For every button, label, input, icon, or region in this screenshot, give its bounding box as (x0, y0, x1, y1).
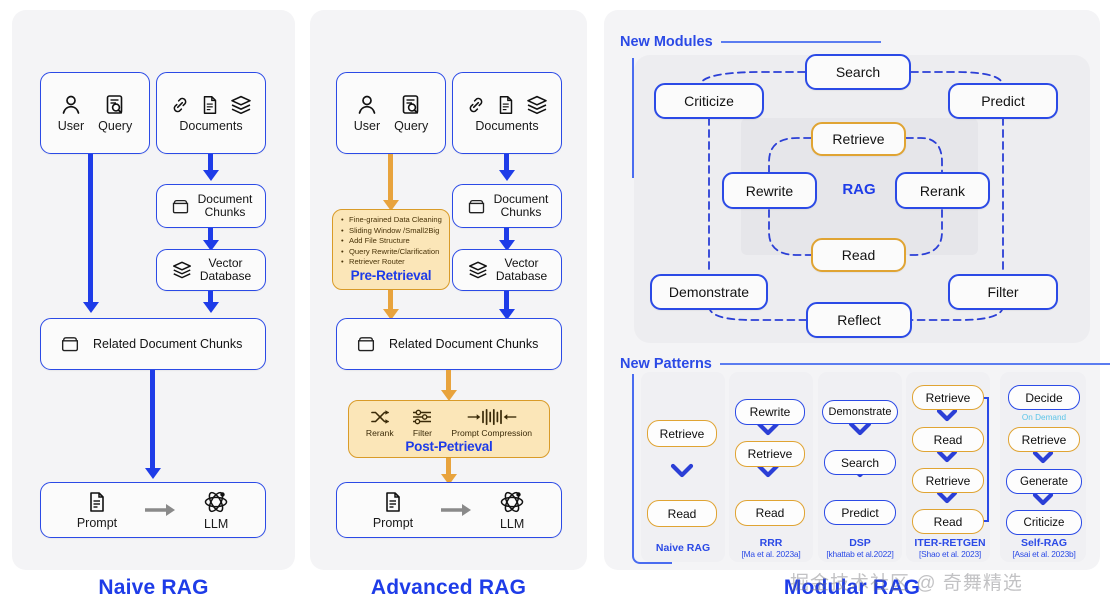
query-label: Query (394, 119, 428, 133)
right-arrow-icon (439, 501, 473, 519)
pattern-step-rewrite[interactable]: Rewrite (735, 399, 805, 425)
step-label: Retrieve (748, 447, 793, 461)
pattern-citation: [Shao et al. 2023] (902, 549, 998, 560)
panel-title-naive-rag: Naive RAG (12, 576, 295, 600)
post-retrieval-label: Post-Petrieval (349, 439, 549, 454)
naive-arrow-related-to-prompt (150, 370, 155, 470)
post-retrieval-icons: Rerank Filter (349, 401, 549, 438)
module-reflect[interactable]: Reflect (806, 302, 912, 338)
prompt-compression-icon (463, 408, 521, 426)
module-predict-label: Predict (981, 93, 1025, 109)
post-retrieval-note: Rerank Filter (348, 400, 550, 458)
module-rewrite[interactable]: Rewrite (722, 172, 817, 209)
pre-bullet: Query Rewrite/Clarification (349, 247, 443, 257)
panel-title-advanced-rag: Advanced RAG (310, 576, 587, 600)
related-chunks-icon (355, 333, 377, 355)
pattern-column-naive-rag (641, 372, 725, 562)
prompt-compression-label: Prompt Compression (451, 428, 532, 438)
module-criticize[interactable]: Criticize (654, 83, 764, 119)
filter-cell: Filter (411, 408, 433, 438)
pattern-caption-rrr: RRR [Ma et al. 2023a] (729, 538, 813, 560)
pre-retrieval-bullets: Fine-grained Data Cleaning Sliding Windo… (333, 210, 449, 267)
rerank-label: Rerank (366, 428, 394, 438)
module-read-label: Read (842, 247, 875, 263)
prompt-label: Prompt (77, 516, 117, 530)
module-search[interactable]: Search (805, 54, 911, 90)
pattern-step-retrieve[interactable]: Retrieve (735, 441, 805, 467)
module-retrieve[interactable]: Retrieve (811, 122, 906, 156)
new-patterns-header: New Patterns (620, 356, 1110, 372)
advanced-related-chunks-box: Related Document Chunks (336, 318, 562, 370)
query-icon-cell: Query (98, 93, 132, 133)
pattern-name: ITER-RETGEN (914, 537, 985, 549)
user-icon-cell: User (354, 93, 380, 133)
user-label: User (354, 119, 380, 133)
step-label: Read (934, 433, 963, 447)
query-icon-cell: Query (394, 93, 428, 133)
module-filter[interactable]: Filter (948, 274, 1058, 310)
prompt-compression-cell: Prompt Compression (451, 408, 532, 438)
rerank-shuffle-icon (369, 408, 391, 426)
step-label: Retrieve (926, 474, 971, 488)
prompt-document-icon (85, 490, 109, 514)
new-modules-header: New Modules (620, 34, 881, 50)
naive-vector-database-box: VectorDatabase (156, 249, 266, 291)
link-icon (169, 94, 191, 116)
pattern-step-generate[interactable]: Generate (1006, 469, 1082, 494)
naive-arrowhead-user (83, 302, 99, 313)
document-icon (495, 94, 517, 116)
step-label: Demonstrate (829, 406, 892, 418)
module-criticize-label: Criticize (684, 93, 734, 109)
query-search-doc-icon (399, 93, 423, 117)
advanced-documents-box: Documents (452, 72, 562, 154)
pattern-step-predict[interactable]: Predict (824, 500, 896, 525)
advanced-document-chunks-label: DocumentChunks (494, 193, 549, 219)
llm-label: LLM (204, 517, 228, 531)
link-icon (465, 94, 487, 116)
new-patterns-heading: New Patterns (620, 356, 712, 372)
filter-sliders-icon (411, 408, 433, 426)
naive-user-query-box: User Query (40, 72, 150, 154)
pre-retrieval-label: Pre-Retrieval (333, 268, 449, 283)
step-label: Read (934, 515, 963, 529)
pattern-step-decide[interactable]: Decide (1008, 385, 1080, 410)
chunks-box-icon (170, 196, 191, 217)
filter-label: Filter (413, 428, 432, 438)
step-label: Rewrite (750, 405, 791, 419)
user-icon-cell: User (58, 93, 84, 133)
self-rag-on-demand-annotation: On Demand (1008, 413, 1080, 422)
chunks-box-icon (466, 196, 487, 217)
step-label: Decide (1025, 391, 1062, 405)
naive-arrowhead-related (203, 302, 219, 313)
stack-layers-icon (229, 93, 253, 117)
user-label: User (58, 119, 84, 133)
pattern-caption-self-rag: Self-RAG [Asai et al. 2023b] (998, 538, 1090, 560)
pre-bullet: Fine-grained Data Cleaning (349, 215, 443, 225)
pattern-caption-naive-rag: Naive RAG (641, 543, 725, 554)
module-demonstrate[interactable]: Demonstrate (650, 274, 768, 310)
related-chunks-icon (59, 333, 81, 355)
pre-retrieval-note: Fine-grained Data Cleaning Sliding Windo… (332, 209, 450, 290)
new-patterns-rule (720, 363, 1110, 365)
step-label: Retrieve (1022, 433, 1067, 447)
step-label: Read (668, 507, 697, 521)
pattern-citation: [Asai et al. 2023b] (998, 549, 1090, 560)
pattern-caption-iter-retgen: ITER-RETGEN [Shao et al. 2023] (902, 538, 998, 560)
pattern-step-read[interactable]: Read (912, 427, 984, 452)
llm-icon-cell: LLM (203, 489, 229, 531)
llm-icon-cell: LLM (499, 489, 525, 531)
pattern-step-retrieve[interactable]: Retrieve (912, 468, 984, 493)
rag-center-label: RAG (820, 181, 898, 198)
pattern-name: RRR (760, 537, 783, 549)
prompt-document-icon (381, 490, 405, 514)
naive-vector-database-label: VectorDatabase (200, 257, 251, 283)
advanced-arrow-related-to-post (446, 370, 451, 392)
naive-document-chunks-label: DocumentChunks (198, 193, 253, 219)
step-label: Read (756, 506, 785, 520)
naive-arrowhead-prompt (145, 468, 161, 479)
module-filter-label: Filter (987, 284, 1018, 300)
advanced-vector-database-box: VectorDatabase (452, 249, 562, 291)
user-icon (59, 93, 83, 117)
naive-documents-box: Documents (156, 72, 266, 154)
pattern-name: Naive RAG (656, 542, 710, 554)
advanced-user-query-box: User Query (336, 72, 446, 154)
pattern-citation: [Ma et al. 2023a] (729, 549, 813, 560)
pattern-name: DSP (849, 537, 871, 549)
rerank-cell: Rerank (366, 408, 394, 438)
module-rerank-label: Rerank (920, 183, 965, 199)
llm-atom-icon (203, 489, 229, 515)
user-icon (355, 93, 379, 117)
prompt-icon-cell: Prompt (373, 490, 413, 530)
naive-arrow-user-to-related (88, 154, 93, 304)
advanced-arrow-user-to-pre (388, 154, 393, 202)
pattern-step-read[interactable]: Read (735, 500, 805, 526)
advanced-related-chunks-label: Related Document Chunks (389, 337, 538, 351)
diagram-canvas: User Query (0, 0, 1110, 608)
pattern-step-demonstrate[interactable]: Demonstrate (822, 400, 898, 424)
module-rerank[interactable]: Rerank (895, 172, 990, 209)
advanced-prompt-llm-box: Prompt LLM (336, 482, 562, 538)
step-label: Predict (841, 506, 878, 520)
documents-label: Documents (475, 119, 538, 133)
naive-related-chunks-label: Related Document Chunks (93, 337, 242, 351)
advanced-vector-database-label: VectorDatabase (496, 257, 547, 283)
documents-label: Documents (179, 119, 242, 133)
pattern-step-criticize[interactable]: Criticize (1006, 510, 1082, 535)
step-label: Search (841, 456, 879, 470)
new-modules-heading: New Modules (620, 34, 713, 50)
vector-db-layers-icon (467, 259, 489, 281)
module-demonstrate-label: Demonstrate (669, 284, 749, 300)
query-label: Query (98, 119, 132, 133)
pattern-name: Self-RAG (1021, 537, 1067, 549)
module-read[interactable]: Read (811, 238, 906, 272)
advanced-arrowhead-chunks (499, 170, 515, 181)
pattern-step-read[interactable]: Read (647, 500, 717, 527)
naive-related-chunks-box: Related Document Chunks (40, 318, 266, 370)
pattern-step-retrieve[interactable]: Retrieve (912, 385, 984, 410)
pre-bullet: Sliding Window /Small2Big (349, 226, 443, 236)
pattern-citation: [khattab et al.2022] (814, 549, 906, 560)
step-label: Criticize (1024, 517, 1065, 529)
module-rewrite-label: Rewrite (746, 183, 793, 199)
prompt-icon-cell: Prompt (77, 490, 117, 530)
document-icon (199, 94, 221, 116)
new-modules-rule (721, 41, 881, 43)
llm-atom-icon (499, 489, 525, 515)
pattern-caption-dsp: DSP [khattab et al.2022] (814, 538, 906, 560)
documents-icon-cell: Documents (169, 93, 253, 133)
naive-arrowhead-chunks (203, 170, 219, 181)
query-search-doc-icon (103, 93, 127, 117)
module-retrieve-label: Retrieve (832, 131, 884, 147)
advanced-document-chunks-box: DocumentChunks (452, 184, 562, 228)
pattern-step-read[interactable]: Read (912, 509, 984, 534)
module-search-label: Search (836, 64, 880, 80)
step-label: Retrieve (926, 391, 971, 405)
pattern-step-retrieve[interactable]: Retrieve (1008, 427, 1080, 452)
step-label: Retrieve (660, 427, 705, 441)
right-arrow-icon (143, 501, 177, 519)
step-label: Generate (1020, 476, 1068, 488)
llm-label: LLM (500, 517, 524, 531)
pre-bullet: Add File Structure (349, 236, 443, 246)
prompt-label: Prompt (373, 516, 413, 530)
watermark: 掘金技术社区 @ 奇舞精选 (790, 568, 1023, 595)
naive-document-chunks-box: DocumentChunks (156, 184, 266, 228)
documents-icon-cell: Documents (465, 93, 549, 133)
module-predict[interactable]: Predict (948, 83, 1058, 119)
pattern-step-retrieve[interactable]: Retrieve (647, 420, 717, 447)
stack-layers-icon (525, 93, 549, 117)
pre-bullet: Retriever Router (349, 257, 443, 267)
naive-prompt-llm-box: Prompt LLM (40, 482, 266, 538)
module-reflect-label: Reflect (837, 312, 881, 328)
pattern-step-search[interactable]: Search (824, 450, 896, 475)
vector-db-layers-icon (171, 259, 193, 281)
